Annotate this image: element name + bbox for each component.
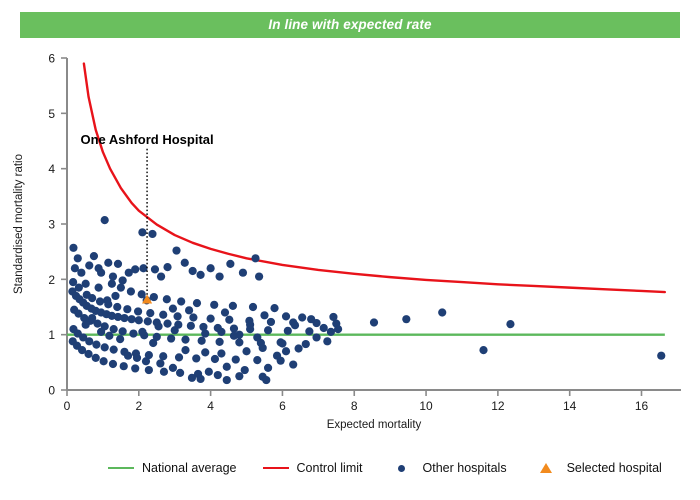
y-axis-tick-label: 0 (48, 384, 55, 398)
hospital-data-point (205, 368, 213, 376)
hospital-data-point (84, 350, 92, 358)
control-limit-line-icon (263, 467, 289, 470)
x-axis-tick-label: 12 (491, 399, 505, 413)
legend-item[interactable]: Control limit (263, 461, 363, 475)
hospital-data-point (109, 272, 117, 280)
hospital-data-point (88, 314, 96, 322)
hospital-data-point (181, 259, 189, 267)
hospital-data-point (334, 325, 342, 333)
hospital-data-point (134, 307, 142, 315)
x-axis-tick-label: 14 (563, 399, 577, 413)
hospital-data-point (77, 269, 85, 277)
hospital-data-point (207, 315, 215, 323)
hospital-data-point (101, 343, 109, 351)
hospital-data-point (113, 303, 121, 311)
legend-item-label: Selected hospital (567, 461, 662, 475)
hospital-data-point (239, 269, 247, 277)
hospital-data-point (159, 352, 167, 360)
hospital-data-point (151, 265, 159, 273)
hospital-data-point (103, 296, 111, 304)
legend-item-label: National average (142, 461, 237, 475)
hospital-data-point (92, 341, 100, 349)
series-layer (67, 64, 665, 385)
hospital-data-point (92, 354, 100, 362)
hospital-data-point (120, 314, 128, 322)
hospital-data-point (97, 269, 105, 277)
hospital-data-point (160, 368, 168, 376)
hospital-data-point (189, 267, 197, 275)
hospital-data-point (211, 355, 219, 363)
hospital-data-point (85, 337, 93, 345)
hospital-data-point (273, 352, 281, 360)
hospital-data-point (241, 366, 249, 374)
x-axis-tick-label: 2 (135, 399, 142, 413)
hospital-data-point (124, 352, 132, 360)
hospital-data-point (108, 280, 116, 288)
chart-legend: National averageControl limitOther hospi… (108, 456, 678, 480)
x-axis-ticks: 0246810121416 (64, 390, 649, 413)
hospital-data-point (172, 246, 180, 254)
hospital-data-point (370, 318, 378, 326)
hospital-data-point (128, 315, 136, 323)
hospital-data-point (226, 260, 234, 268)
hospital-data-point (150, 293, 158, 301)
hospital-data-point (119, 276, 127, 284)
hospital-data-point (307, 315, 315, 323)
hospital-data-point (242, 347, 250, 355)
hospital-data-point (295, 344, 303, 352)
hospital-data-point (277, 338, 285, 346)
x-axis-title: Expected mortality (327, 419, 422, 431)
x-axis-tick-label: 6 (279, 399, 286, 413)
hospital-data-point (196, 375, 204, 383)
legend-item[interactable]: Other hospitals (389, 461, 507, 475)
hospital-data-point (264, 364, 272, 372)
hospital-data-point (284, 327, 292, 335)
funnel-plot-page: In line with expected rate 0123456 02468… (0, 0, 700, 500)
hospital-data-point (138, 228, 146, 236)
hospital-data-point (657, 352, 665, 360)
other-hospitals-points (68, 216, 665, 384)
legend-item-label: Other hospitals (423, 461, 507, 475)
hospital-data-point (323, 337, 331, 345)
hospital-data-point (142, 357, 150, 365)
hospital-data-point (305, 327, 313, 335)
x-axis-tick-label: 10 (419, 399, 433, 413)
hospital-data-point (188, 374, 196, 382)
control-limit-curve (84, 64, 665, 293)
hospital-data-point (216, 272, 224, 280)
hospital-data-point (187, 322, 195, 330)
hospital-data-point (251, 254, 259, 262)
y-axis-tick-label: 2 (48, 273, 55, 287)
hospital-data-point (133, 354, 141, 362)
hospital-data-point (176, 369, 184, 377)
hospital-data-point (110, 346, 118, 354)
hospital-data-point (201, 348, 209, 356)
hospital-data-point (171, 326, 179, 334)
hospital-data-point (312, 333, 320, 341)
hospital-data-point (246, 321, 254, 329)
x-axis-tick-label: 0 (64, 399, 71, 413)
y-axis-tick-label: 4 (48, 162, 55, 176)
hospital-data-point (167, 334, 175, 342)
legend-item[interactable]: National average (108, 461, 237, 475)
hospital-data-point (95, 284, 103, 292)
hospital-data-point (230, 332, 238, 340)
hospital-data-point (146, 309, 154, 317)
hospital-data-point (298, 313, 306, 321)
hospital-data-point (111, 292, 119, 300)
hospital-data-point (101, 216, 109, 224)
selected-hospital-annotation-label: One Ashford Hospital (81, 132, 214, 147)
hospital-data-point (127, 287, 135, 295)
hospital-data-point (214, 371, 222, 379)
national-average-line-icon (108, 467, 134, 470)
selected-hospital-triangle-icon (533, 463, 559, 473)
hospital-data-point (100, 357, 108, 365)
hospital-data-point (402, 315, 410, 323)
hospital-data-point (144, 317, 152, 325)
hospital-data-point (82, 280, 90, 288)
hospital-data-point (114, 260, 122, 268)
hospital-data-point (117, 284, 125, 292)
hospital-data-point (192, 354, 200, 362)
hospital-data-point (135, 316, 143, 324)
hospital-data-point (105, 332, 113, 340)
hospital-data-point (255, 272, 263, 280)
hospital-data-point (88, 294, 96, 302)
hospital-data-point (262, 376, 270, 384)
legend-item-label: Control limit (297, 461, 363, 475)
national-average-line-icon-swatch (108, 467, 134, 470)
hospital-data-point (129, 329, 137, 337)
hospital-data-point (185, 306, 193, 314)
hospital-data-point (207, 264, 215, 272)
hospital-data-point (116, 335, 124, 343)
hospital-data-point (225, 316, 233, 324)
y-axis-title: Standardised mortality ratio (13, 154, 25, 294)
hospital-data-point (109, 360, 117, 368)
hospital-data-point (169, 305, 177, 313)
hospital-data-point (249, 303, 257, 311)
hospital-data-point (302, 340, 310, 348)
hospital-data-point (82, 321, 90, 329)
hospital-data-point (270, 304, 278, 312)
hospital-data-point (96, 297, 104, 305)
selected-hospital-triangle-icon-swatch (540, 463, 552, 473)
hospital-data-point (90, 252, 98, 260)
hospital-data-point (193, 299, 201, 307)
hospital-data-point (120, 362, 128, 370)
hospital-data-point (104, 259, 112, 267)
hospital-data-point (196, 271, 204, 279)
hospital-data-point (210, 301, 218, 309)
hospital-data-point (329, 313, 337, 321)
hospital-data-point (154, 322, 162, 330)
hospital-data-point (216, 338, 224, 346)
control-limit-line-icon-swatch (263, 467, 289, 470)
y-axis-ticks: 0123456 (48, 52, 67, 398)
y-axis-tick-label: 6 (48, 52, 55, 66)
hospital-data-point (506, 320, 514, 328)
hospital-data-point (145, 366, 153, 374)
hospital-data-point (139, 264, 147, 272)
hospital-data-point (156, 359, 164, 367)
hospital-data-point (289, 360, 297, 368)
hospital-data-point (97, 328, 105, 336)
other-hospitals-dot-icon (389, 465, 415, 472)
x-axis-tick-label: 16 (635, 399, 649, 413)
funnel-plot-chart: 0123456 0246810121416 Standardised morta… (0, 0, 700, 450)
y-axis-tick-label: 3 (48, 218, 55, 232)
hospital-data-point (131, 364, 139, 372)
hospital-data-point (163, 295, 171, 303)
hospital-data-point (320, 324, 328, 332)
hospital-data-point (217, 349, 225, 357)
hospital-data-point (282, 347, 290, 355)
hospital-data-point (181, 336, 189, 344)
other-hospitals-dot-icon-swatch (398, 465, 405, 472)
hospital-data-point (181, 346, 189, 354)
hospital-data-point (479, 346, 487, 354)
hospital-data-point (201, 329, 209, 337)
hospital-data-point (232, 355, 240, 363)
x-axis-tick-label: 4 (207, 399, 214, 413)
hospital-data-point (264, 326, 272, 334)
hospital-data-point (169, 364, 177, 372)
hospital-data-point (159, 311, 167, 319)
hospital-data-point (229, 302, 237, 310)
hospital-data-point (163, 320, 171, 328)
hospital-data-point (221, 308, 229, 316)
hospital-data-point (253, 333, 261, 341)
y-axis-tick-label: 5 (48, 107, 55, 121)
y-axis-tick-label: 1 (48, 328, 55, 342)
hospital-data-point (259, 344, 267, 352)
hospital-data-point (85, 261, 93, 269)
hospital-data-point (253, 356, 261, 364)
legend-item[interactable]: Selected hospital (533, 461, 662, 475)
hospital-data-point (119, 327, 127, 335)
hospital-data-point (223, 376, 231, 384)
hospital-data-point (438, 308, 446, 316)
hospital-data-point (235, 338, 243, 346)
hospital-data-point (148, 230, 156, 238)
hospital-data-point (282, 312, 290, 320)
hospital-data-point (74, 254, 82, 262)
hospital-data-point (123, 305, 131, 313)
hospital-data-point (173, 312, 181, 320)
hospital-data-point (175, 353, 183, 361)
hospital-data-point (223, 363, 231, 371)
hospital-data-point (131, 265, 139, 273)
hospital-data-point (260, 311, 268, 319)
hospital-data-point (157, 272, 165, 280)
x-axis-tick-label: 8 (351, 399, 358, 413)
hospital-data-point (163, 263, 171, 271)
hospital-data-point (267, 318, 275, 326)
hospital-data-point (291, 321, 299, 329)
hospital-data-point (69, 244, 77, 252)
hospital-data-point (177, 297, 185, 305)
hospital-data-point (138, 328, 146, 336)
hospital-data-point (149, 339, 157, 347)
hospital-data-point (217, 328, 225, 336)
hospital-data-point (189, 313, 197, 321)
hospital-data-point (198, 337, 206, 345)
hospital-data-point (327, 328, 335, 336)
